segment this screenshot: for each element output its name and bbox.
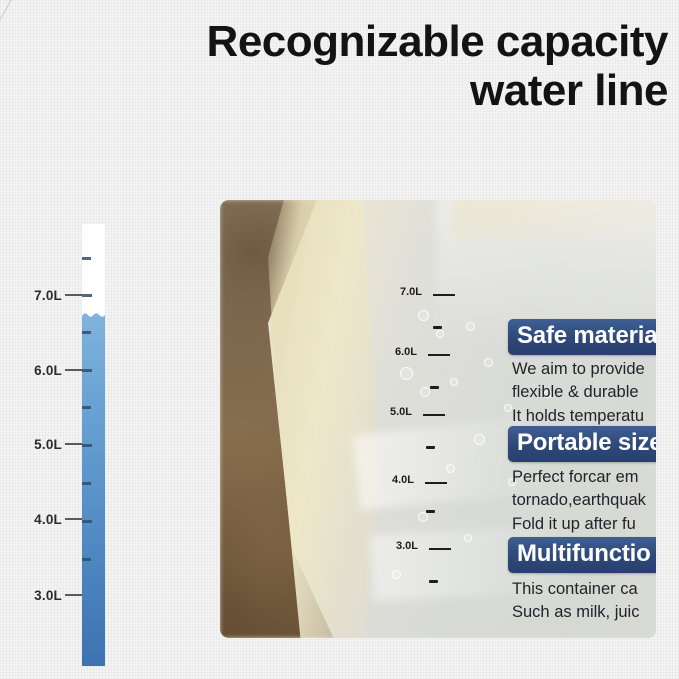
gauge-label-4L: 4.0L xyxy=(22,512,62,527)
gauge-leader-6L xyxy=(65,369,82,371)
bag-scale-dash-3L xyxy=(429,548,451,550)
feature-text-portable-size: Perfect forcar em tornado,earthquak Fold… xyxy=(512,466,646,536)
feature-text-multifunction: This container ca Such as milk, juic xyxy=(512,578,639,625)
bag-scale-minor-45 xyxy=(426,446,435,449)
gauge-ticks xyxy=(82,224,105,666)
bag-scale-label-3L: 3.0L xyxy=(396,540,418,552)
feature-text-safe-material: We aim to provide flexible & durable It … xyxy=(512,358,645,428)
headline-line-2: water line xyxy=(90,66,668,115)
gauge-leader-7L xyxy=(65,294,82,296)
page-title: Recognizable capacity water line xyxy=(90,17,668,116)
bag-scale-label-7L: 7.0L xyxy=(400,286,422,298)
bag-scale-minor-65 xyxy=(433,326,442,329)
gauge-label-7L: 7.0L xyxy=(22,288,62,303)
gauge-tick-4L xyxy=(82,444,92,447)
feature-line: It holds temperatu xyxy=(512,405,645,428)
feature-line: We aim to provide xyxy=(512,358,645,381)
feature-line: Such as milk, juic xyxy=(512,601,639,624)
gauge-leader-4L xyxy=(65,518,82,520)
bag-scale-dash-5L xyxy=(423,414,445,416)
gauge-tick-minor-65 xyxy=(82,257,91,260)
feature-line: Fold it up after fu xyxy=(512,513,646,536)
gauge-leader-3L xyxy=(65,594,82,596)
gauge-tick-minor-55 xyxy=(82,331,91,334)
gauge-tick-3L xyxy=(82,520,92,523)
bag-scale-minor-35 xyxy=(426,510,435,513)
gauge-tick-minor-25 xyxy=(82,558,91,561)
feature-line: This container ca xyxy=(512,578,639,601)
bag-scale-minor-25 xyxy=(429,580,438,583)
water-bag-photo: 7.0L 6.0L 5.0L 4.0L 3.0L Safe materia We… xyxy=(220,200,656,638)
gauge-label-6L: 6.0L xyxy=(22,363,62,378)
gauge-label-5L: 5.0L xyxy=(22,437,62,452)
gauge-label-3L: 3.0L xyxy=(22,588,62,603)
bag-scale-minor-55 xyxy=(430,386,439,389)
headline-line-1: Recognizable capacity xyxy=(90,17,668,66)
product-infographic: Recognizable capacity water line 7.0L 6.… xyxy=(0,0,679,679)
bag-scale-dash-4L xyxy=(425,482,447,484)
feature-line: flexible & durable xyxy=(512,381,645,404)
feature-line: tornado,earthquak xyxy=(512,489,646,512)
gauge-tick-minor-35 xyxy=(82,482,91,485)
feature-banner-multifunction: Multifunctio xyxy=(508,537,656,573)
gauge-tick-5L xyxy=(82,369,92,372)
gauge-tick-minor-45 xyxy=(82,406,91,409)
feature-banner-safe-material: Safe materia xyxy=(508,319,656,355)
bag-scale-label-5L: 5.0L xyxy=(390,406,412,418)
feature-line: Perfect forcar em xyxy=(512,466,646,489)
bag-scale-label-4L: 4.0L xyxy=(392,474,414,486)
capacity-gauge xyxy=(82,224,105,666)
gauge-leader-5L xyxy=(65,443,82,445)
bag-scale-dash-6L xyxy=(428,354,450,356)
bag-scale-label-6L: 6.0L xyxy=(395,346,417,358)
bag-scale-dash-7L xyxy=(433,294,455,296)
gauge-tick-6L xyxy=(82,294,92,297)
feature-banner-portable-size: Portable size xyxy=(508,426,656,462)
